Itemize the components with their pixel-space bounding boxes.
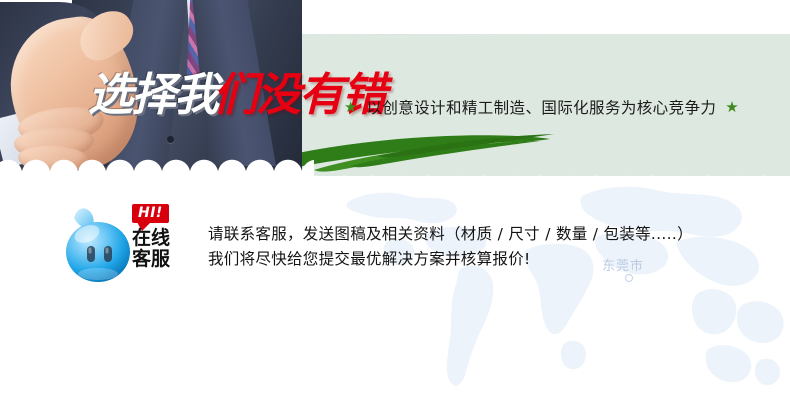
promo-banner: 东莞市 [0, 0, 790, 400]
service-line: 请联系客服，发送图稿及相关资料（材质 / 尺寸 / 数量 / 包装等.....） [208, 222, 693, 247]
online-service-label-line2: 客服 [132, 249, 170, 270]
tagline: ★ 以创意设计和精工制造、国际化服务为核心竞争力 ★ [344, 96, 739, 118]
tagline-text: 以创意设计和精工制造、国际化服务为核心竞争力 [366, 96, 716, 118]
service-line: 我们将尽快给您提交最优解决方案并核算报价! [208, 247, 693, 272]
online-service-label: 在线 客服 [132, 228, 170, 269]
hi-speech-bubble: HI! [132, 204, 169, 223]
star-icon-right: ★ [725, 100, 738, 115]
headline: 选择我们没有错 [88, 72, 385, 117]
online-service-label-line1: 在线 [132, 228, 170, 249]
blue-blob-mascot-icon [62, 204, 136, 288]
star-icon-left: ★ [344, 100, 357, 115]
service-instruction-lines: 请联系客服，发送图稿及相关资料（材质 / 尺寸 / 数量 / 包装等.....）… [208, 204, 693, 272]
online-service-block: HI! 在线 客服 请联系客服，发送图稿及相关资料（材质 / 尺寸 / 数量 /… [62, 204, 693, 288]
suit-button [167, 136, 174, 143]
headline-white-part: 选择我 [88, 68, 217, 121]
